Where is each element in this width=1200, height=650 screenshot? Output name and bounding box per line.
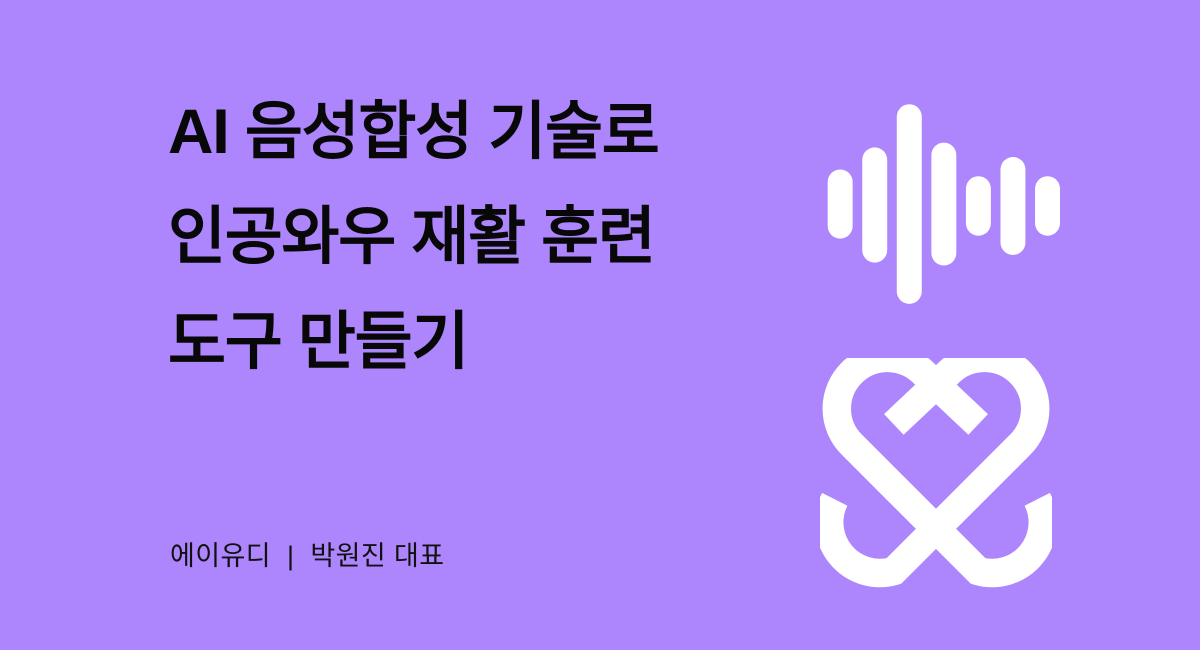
text-column: AI 음성합성 기술로 인공와우 재활 훈련 도구 만들기 에이유디 | 박원진… [168, 0, 768, 650]
title-line-2: 인공와우 재활 훈련 [168, 185, 768, 290]
title-line-1: AI 음성합성 기술로 [168, 80, 768, 185]
presentation-slide: AI 음성합성 기술로 인공와우 재활 훈련 도구 만들기 에이유디 | 박원진… [0, 0, 1200, 650]
byline: 에이유디 | 박원진 대표 [170, 539, 445, 573]
waveform-bar-6 [1000, 157, 1025, 255]
waveform-bar-7 [1035, 176, 1060, 236]
waveform-bar-1 [828, 169, 853, 238]
title-line-3: 도구 만들기 [168, 290, 768, 395]
byline-separator: | [271, 539, 310, 573]
waveform-bar-5 [966, 176, 991, 236]
waveform-bar-3 [897, 104, 922, 304]
audio-waveform-icon [820, 90, 1060, 320]
waveform-bar-4 [931, 143, 956, 266]
waveform-bar-2 [862, 147, 887, 262]
byline-organization: 에이유디 [170, 539, 271, 573]
celtic-knot-logo-icon [820, 358, 1052, 590]
byline-person: 박원진 대표 [310, 539, 444, 573]
page-title: AI 음성합성 기술로 인공와우 재활 훈련 도구 만들기 [168, 80, 768, 395]
